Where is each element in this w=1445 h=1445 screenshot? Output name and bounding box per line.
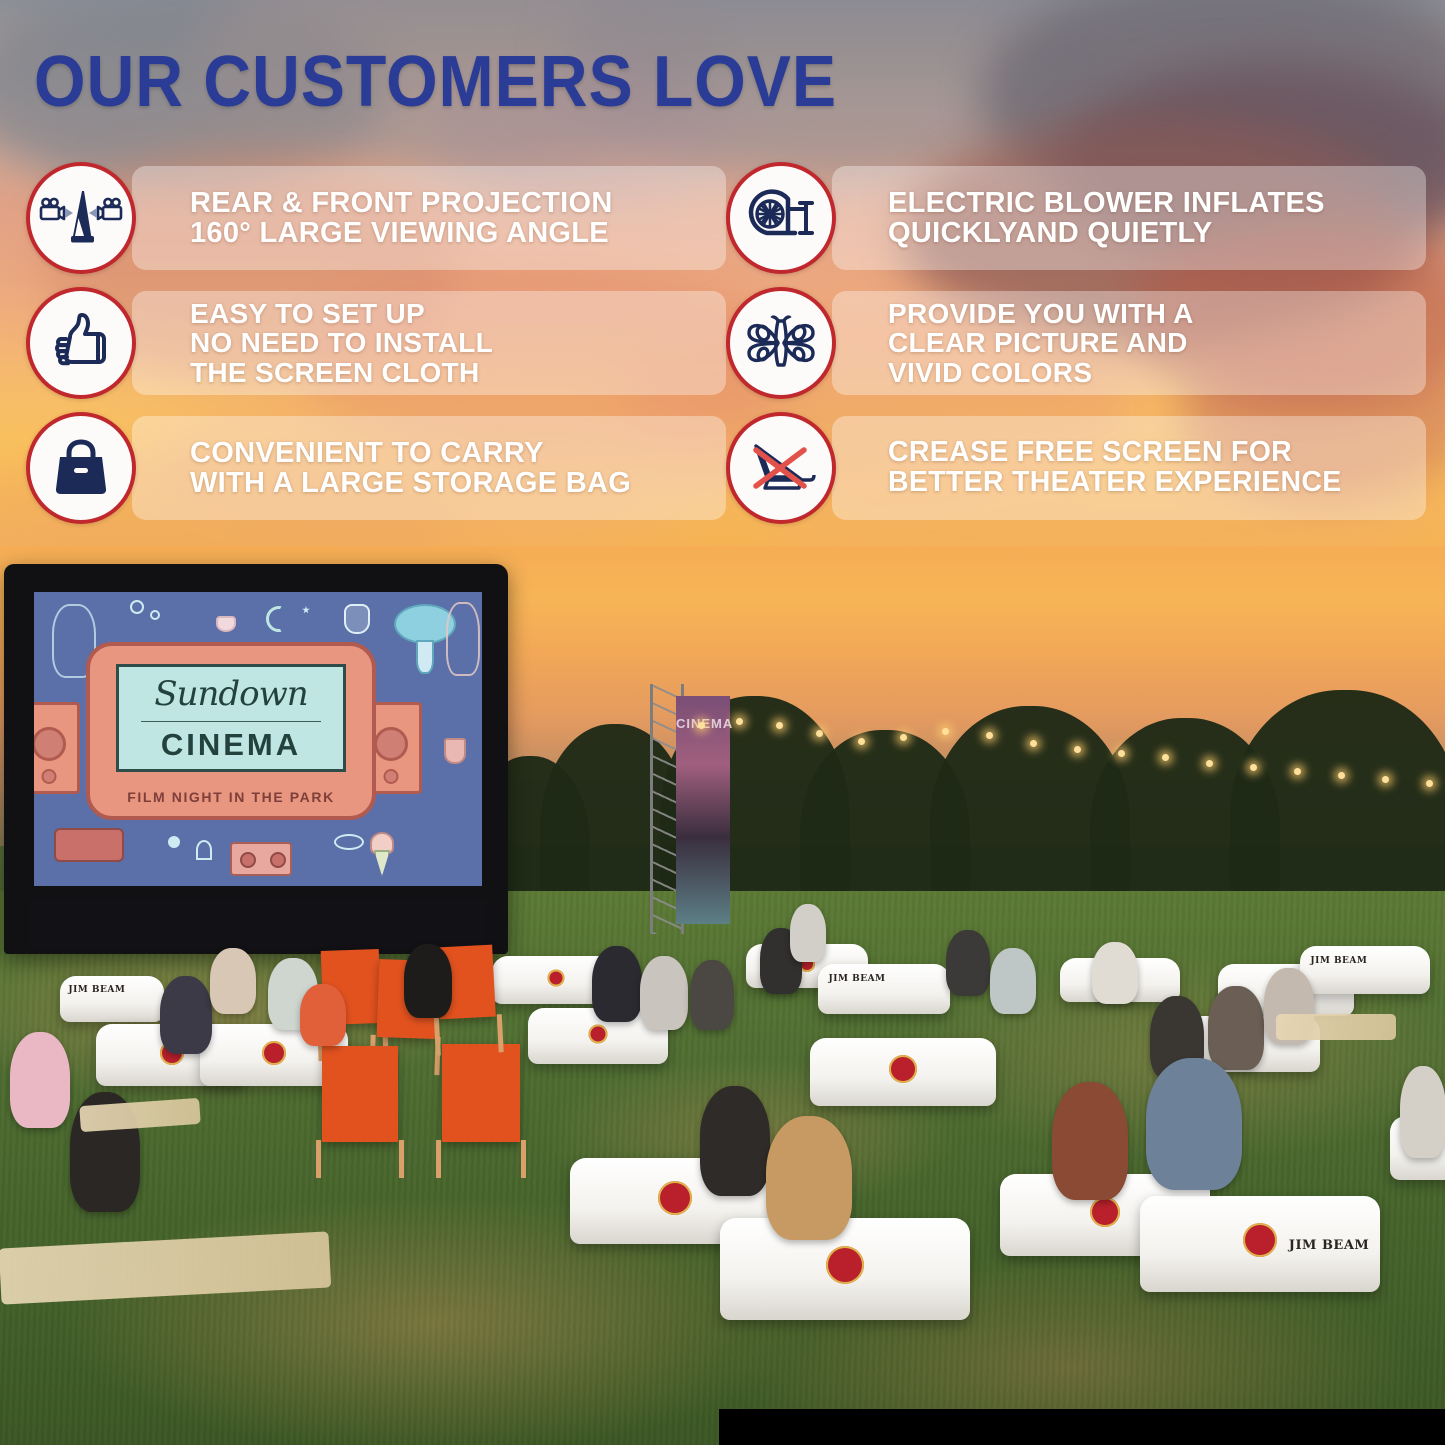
person [592, 946, 642, 1022]
feature-easy-setup: EASY TO SET UP NO NEED TO INSTALL THE SC… [26, 285, 726, 401]
sofa-brand-label: JIM BEAM [1310, 956, 1367, 966]
sofa-brand-label: JIM BEAM [68, 985, 125, 995]
feature-line: CLEAR PICTURE AND [888, 328, 1412, 357]
feature-rear-front-projection: REAR & FRONT PROJECTION 160° LARGE VIEWI… [26, 160, 726, 276]
sofa-seal-logo [1090, 1197, 1120, 1227]
inflatable-sofa: JIM BEAM [818, 964, 950, 1014]
feature-line: CONVENIENT TO CARRY [190, 438, 712, 468]
product-feature-poster: OUR CUSTOMERS LOVE [0, 0, 1445, 1445]
inflatable-sofa: JIM BEAM [1140, 1196, 1380, 1292]
projection-screen-icon [26, 162, 136, 274]
feature-line: WITH A LARGE STORAGE BAG [190, 468, 712, 498]
person [766, 1116, 852, 1240]
person [210, 948, 256, 1014]
screen-base [30, 900, 486, 948]
feature-line: CREASE FREE SCREEN FOR [888, 438, 1412, 468]
sofa-seal-logo [262, 1041, 286, 1065]
inflatable-sofa: JIM BEAM [1300, 946, 1430, 994]
divider [141, 721, 321, 722]
person [10, 1032, 70, 1128]
sofa-seal-logo [589, 1024, 608, 1043]
sofa-seal-logo [658, 1181, 692, 1215]
feature-line: 160° LARGE VIEWING ANGLE [190, 218, 712, 248]
person [700, 1086, 770, 1196]
blower-fan-icon [726, 162, 836, 274]
feature-text-pill: REAR & FRONT PROJECTION 160° LARGE VIEWI… [132, 166, 726, 270]
person [990, 948, 1036, 1014]
butterfly-icon [726, 287, 836, 399]
feature-line: REAR & FRONT PROJECTION [190, 188, 712, 218]
feature-crease-free: CREASE FREE SCREEN FOR BETTER THEATER EX… [726, 410, 1426, 526]
feature-text-pill: PROVIDE YOU WITH A CLEAR PICTURE AND VIV… [832, 291, 1426, 395]
feature-column-left: REAR & FRONT PROJECTION 160° LARGE VIEWI… [26, 160, 726, 535]
feature-line: NO NEED TO INSTALL [190, 328, 712, 357]
feature-line: PROVIDE YOU WITH A [888, 299, 1412, 328]
string-lights [690, 716, 1445, 836]
feature-text-pill: EASY TO SET UP NO NEED TO INSTALL THE SC… [132, 291, 726, 395]
sofa-seal-logo [548, 970, 565, 987]
sofa-brand-label: JIM BEAM [1289, 1238, 1370, 1253]
feature-text-pill: CONVENIENT TO CARRY WITH A LARGE STORAGE… [132, 416, 726, 520]
feature-text-pill: CREASE FREE SCREEN FOR BETTER THEATER EX… [832, 416, 1426, 520]
person [690, 960, 734, 1030]
feature-column-right: ELECTRIC BLOWER INFLATES QUICKLYAND QUIE… [726, 160, 1426, 535]
person [1208, 986, 1264, 1070]
person [300, 984, 346, 1046]
person [946, 930, 990, 996]
storage-bag-icon [26, 412, 136, 524]
inflatable-sofa [720, 1218, 970, 1320]
sofa-seal-logo [1243, 1223, 1277, 1257]
footer-black-bar [719, 1409, 1445, 1445]
feature-grid: REAR & FRONT PROJECTION 160° LARGE VIEWI… [0, 160, 1445, 550]
sofa-seal-logo [826, 1246, 864, 1284]
illustrated-tv-screen: Sundown CINEMA [116, 664, 346, 772]
person [640, 956, 688, 1030]
person [1052, 1082, 1128, 1200]
deck-chair [322, 1046, 398, 1142]
feature-storage-bag: CONVENIENT TO CARRY WITH A LARGE STORAGE… [26, 410, 726, 526]
projected-image: Sundown CINEMA FILM NIGHT IN THE PARK [34, 592, 482, 886]
feature-electric-blower: ELECTRIC BLOWER INFLATES QUICKLYAND QUIE… [726, 160, 1426, 276]
thumbs-up-icon [26, 287, 136, 399]
no-iron-crease-free-icon [726, 412, 836, 524]
lifestyle-photo-outdoor-cinema: CINEMA [0, 546, 1445, 1445]
feature-line: EASY TO SET UP [190, 299, 712, 328]
feature-line: BETTER THEATER EXPERIENCE [888, 468, 1412, 498]
person [1400, 1066, 1445, 1158]
person [1146, 1058, 1242, 1190]
projected-main-title: CINEMA [119, 729, 343, 760]
illustrated-speaker-left [34, 702, 80, 794]
page-title: OUR CUSTOMERS LOVE [34, 46, 837, 118]
inflatable-movie-screen: Sundown CINEMA FILM NIGHT IN THE PARK [4, 564, 508, 954]
sofa-seal-logo [889, 1055, 917, 1083]
person [404, 944, 452, 1018]
feature-line: QUICKLYAND QUIETLY [888, 218, 1412, 248]
projected-script-title: Sundown [119, 677, 343, 711]
feature-text-pill: ELECTRIC BLOWER INFLATES QUICKLYAND QUIE… [832, 166, 1426, 270]
feature-clear-picture: PROVIDE YOU WITH A CLEAR PICTURE AND VIV… [726, 285, 1426, 401]
feature-line: ELECTRIC BLOWER INFLATES [888, 188, 1412, 218]
projected-tagline: FILM NIGHT IN THE PARK [90, 790, 372, 804]
illustrated-tv-frame: Sundown CINEMA FILM NIGHT IN THE PARK [86, 642, 376, 820]
picnic-blanket [1276, 1014, 1396, 1040]
inflatable-sofa [810, 1038, 996, 1106]
person [1092, 942, 1138, 1004]
deck-chair [442, 1044, 520, 1142]
feature-line: VIVID COLORS [888, 358, 1412, 387]
inflatable-sofa: JIM BEAM [60, 976, 164, 1022]
person [790, 904, 826, 962]
sofa-brand-label: JIM BEAM [829, 974, 886, 984]
person [160, 976, 212, 1054]
feature-line: THE SCREEN CLOTH [190, 358, 712, 387]
